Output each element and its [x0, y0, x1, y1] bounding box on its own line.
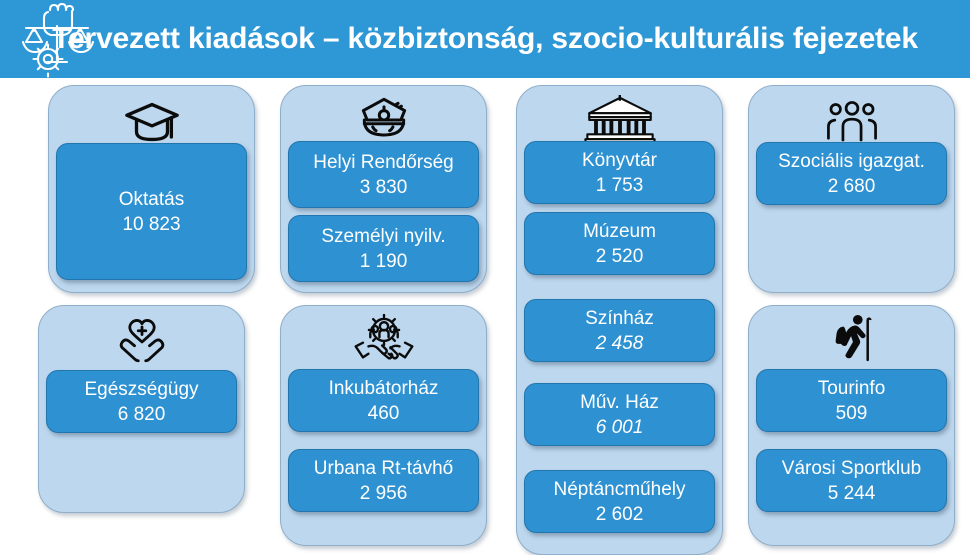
value-chip-egeszsegugy[interactable]: Egészségügy 6 820 [46, 370, 237, 433]
category-card-economy: Inkubátorház 460 Urbana Rt-távhő 2 956 [280, 305, 487, 546]
category-card-education: Oktatás 10 823 [48, 85, 255, 293]
value-chip-muv-haz[interactable]: Műv. Ház 6 001 [524, 383, 715, 446]
value-chip-szinhaz[interactable]: Színház 2 458 [524, 299, 715, 362]
chip-value: 1 753 [596, 173, 644, 198]
value-chip-inkubatorhaz[interactable]: Inkubátorház 460 [288, 369, 479, 432]
category-card-health: Egészségügy 6 820 [38, 305, 245, 513]
value-chip-tourinfo[interactable]: Tourinfo 509 [756, 369, 947, 432]
chip-value: 509 [836, 401, 868, 426]
chip-label: Könyvtár [582, 148, 657, 173]
chip-label: Színház [585, 306, 654, 331]
chip-value: 6 001 [596, 415, 644, 440]
header-banner: Tervezett kiadások – közbiztonság, szoci… [0, 0, 970, 78]
chip-label: Urbana Rt-távhő [314, 456, 453, 481]
chip-label: Műv. Ház [580, 390, 659, 415]
three-people-icon [748, 93, 955, 149]
hiker-backpack-icon [748, 311, 955, 369]
category-card-culture: Könyvtár 1 753 Múzeum 2 520 Színház 2 45… [516, 85, 723, 555]
chip-label: Tourinfo [818, 376, 886, 401]
value-chip-muzeum[interactable]: Múzeum 2 520 [524, 212, 715, 275]
chip-value: 1 190 [360, 249, 408, 274]
chip-value: 460 [368, 401, 400, 426]
value-chip-urbana-rt-tavho[interactable]: Urbana Rt-távhő 2 956 [288, 449, 479, 512]
chip-value: 2 956 [360, 481, 408, 506]
handshake-gear-idea-icon [280, 311, 487, 369]
category-card-police: Helyi Rendőrség 3 830 Személyi nyilv. 1 … [280, 85, 487, 293]
chip-value: 5 244 [828, 481, 876, 506]
value-chip-varosi-sportklub[interactable]: Városi Sportklub 5 244 [756, 449, 947, 512]
value-chip-konyvtar[interactable]: Könyvtár 1 753 [524, 141, 715, 204]
hands-heart-cross-icon [38, 313, 245, 371]
chip-label: Néptáncműhely [553, 477, 685, 502]
police-cap-icon [280, 91, 487, 147]
chip-value: 6 820 [118, 402, 166, 427]
category-card-social: Szociális igazgat. 2 680 [748, 85, 955, 293]
chip-label: Szociális igazgat. [778, 149, 925, 174]
chip-label: Helyi Rendőrség [313, 150, 453, 175]
value-chip-szemelyi-nyilv[interactable]: Személyi nyilv. 1 190 [288, 215, 479, 282]
value-chip-oktatas[interactable]: Oktatás 10 823 [56, 143, 247, 280]
category-card-tourism: Tourinfo 509 Városi Sportklub 5 244 [748, 305, 955, 546]
chip-value: 3 830 [360, 175, 408, 200]
chip-label: Inkubátorház [329, 376, 439, 401]
value-chip-helyi-rendorseg[interactable]: Helyi Rendőrség 3 830 [288, 141, 479, 208]
chip-value: 2 680 [828, 174, 876, 199]
chip-label: Személyi nyilv. [321, 224, 445, 249]
chip-value: 10 823 [122, 212, 180, 237]
chip-label: Múzeum [583, 219, 656, 244]
page-title: Tervezett kiadások – közbiztonság, szoci… [0, 0, 970, 78]
value-chip-szocialis-igazgat[interactable]: Szociális igazgat. 2 680 [756, 142, 947, 205]
value-chip-neptancmuhely[interactable]: Néptáncműhely 2 602 [524, 470, 715, 533]
justice-scales-gear-icon [14, 2, 98, 78]
chip-value: 2 520 [596, 244, 644, 269]
chip-label: Egészségügy [84, 377, 198, 402]
chip-value: 2 458 [596, 331, 644, 356]
chip-value: 2 602 [596, 502, 644, 527]
chip-label: Oktatás [119, 187, 184, 212]
chip-label: Városi Sportklub [782, 456, 921, 481]
classical-building-icon [516, 91, 723, 147]
